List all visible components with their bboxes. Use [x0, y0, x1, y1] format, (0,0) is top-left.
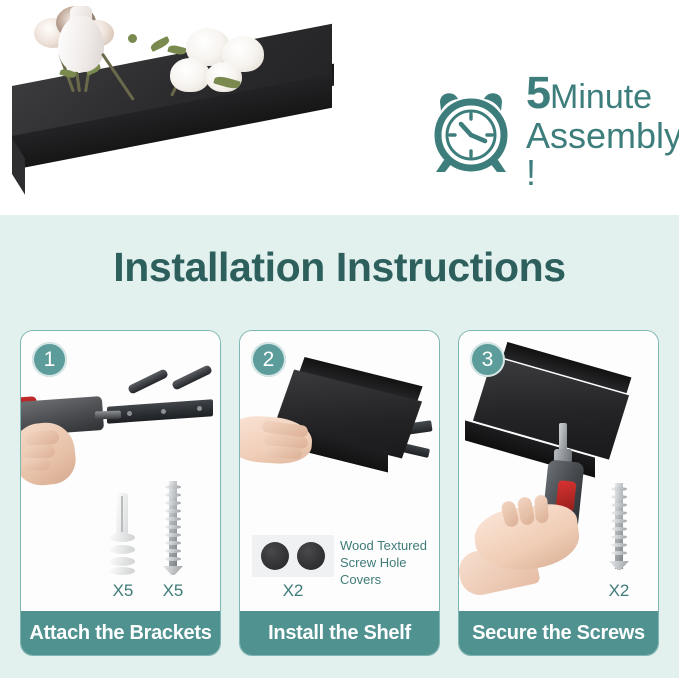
- step-1-footer-label: Attach the Brackets: [21, 611, 220, 655]
- bracket-bolt: [161, 409, 166, 414]
- assembly-unit: Minute: [550, 78, 652, 116]
- step-card-1[interactable]: 1: [20, 330, 221, 656]
- finger: [23, 444, 55, 458]
- assembly-text-block: 5Minute Assembly !: [526, 70, 679, 192]
- caption-line-3: Covers: [340, 571, 432, 588]
- finger: [25, 430, 60, 446]
- product-infographic: 5Minute Assembly ! Installation Instruct…: [0, 0, 679, 678]
- ceramic-vase: [58, 16, 104, 72]
- page-title: Installation Instructions: [0, 244, 679, 291]
- screw-head: [163, 566, 183, 575]
- screw-thread: [165, 549, 181, 553]
- screw-qty-label: X5: [153, 581, 193, 601]
- steps-container: 1: [20, 330, 659, 656]
- screw-hole-covers-caption: Wood Textured Screw Hole Covers: [340, 537, 432, 588]
- step-1-illustration: 1: [21, 331, 220, 611]
- step-card-2[interactable]: 2: [239, 330, 440, 656]
- screw-hole-cover: [261, 542, 289, 570]
- screw-thread: [165, 493, 181, 497]
- bracket-bolt: [197, 406, 202, 411]
- hero-shelf-image: [0, 78, 340, 208]
- anchor-thread: [109, 533, 135, 542]
- anchor-thread: [109, 545, 135, 554]
- screw-hole-covers-illustration: [252, 535, 334, 577]
- anchor-slot: [121, 496, 123, 532]
- anchor-thread: [109, 557, 135, 566]
- instructions-section: Installation Instructions 1: [0, 215, 679, 678]
- bracket-bolt: [127, 411, 132, 416]
- screw-thread: [611, 535, 627, 539]
- step-2-illustration: 2: [240, 331, 439, 611]
- finger: [534, 495, 549, 524]
- screw-illustration: [609, 483, 629, 577]
- anchor-qty-label: X5: [103, 581, 143, 601]
- hero-section: 5Minute Assembly !: [0, 0, 679, 215]
- cover-qty-label: X2: [273, 581, 313, 601]
- assembly-number: 5: [526, 67, 550, 118]
- screw-thread: [611, 551, 627, 555]
- bracket-rod: [171, 364, 213, 391]
- screw-thread: [165, 557, 181, 561]
- step-number-badge-3: 3: [470, 342, 505, 377]
- step-number-badge-1: 1: [32, 342, 67, 377]
- orchid-bloom: [170, 58, 210, 92]
- screw-thread: [165, 485, 181, 489]
- caption-line-2: Screw Hole: [340, 554, 432, 571]
- wall-anchor-illustration: [109, 493, 135, 575]
- anchor-head: [109, 567, 135, 575]
- screw-thread: [611, 487, 627, 491]
- screw-thread: [165, 517, 181, 521]
- screw-thread: [611, 511, 627, 515]
- drill-bit: [95, 411, 121, 420]
- screw-thread: [165, 501, 181, 505]
- bracket-plate: [107, 399, 213, 423]
- assembly-time-badge: 5Minute Assembly !: [428, 70, 679, 192]
- assembly-line-1: 5Minute: [526, 70, 679, 117]
- step-2-footer-label: Install the Shelf: [240, 611, 439, 655]
- screw-qty-label: X2: [599, 581, 639, 601]
- step-3-illustration: 3: [459, 331, 658, 611]
- screw-thread: [165, 533, 181, 537]
- screw-thread: [611, 503, 627, 507]
- screw-hole-cover: [297, 542, 325, 570]
- bracket-rod: [127, 368, 169, 395]
- screw-thread: [611, 495, 627, 499]
- screw-thread: [165, 541, 181, 545]
- step-card-3[interactable]: 3: [458, 330, 659, 656]
- screw-illustration: [163, 481, 183, 577]
- caption-line-1: Wood Textured: [340, 537, 432, 554]
- screw-thread: [165, 509, 181, 513]
- screw-head: [609, 561, 629, 570]
- finger: [262, 446, 303, 459]
- screw-thread: [165, 525, 181, 529]
- screw-thread: [611, 519, 627, 523]
- alarm-clock-icon: [428, 86, 514, 176]
- step-number-badge-2: 2: [251, 342, 286, 377]
- orchid-leaf: [128, 34, 137, 43]
- screw-thread: [611, 527, 627, 531]
- assembly-line-2: Assembly !: [526, 117, 679, 192]
- screw-thread: [611, 543, 627, 547]
- step-3-footer-label: Secure the Screws: [459, 611, 658, 655]
- finger: [22, 458, 50, 471]
